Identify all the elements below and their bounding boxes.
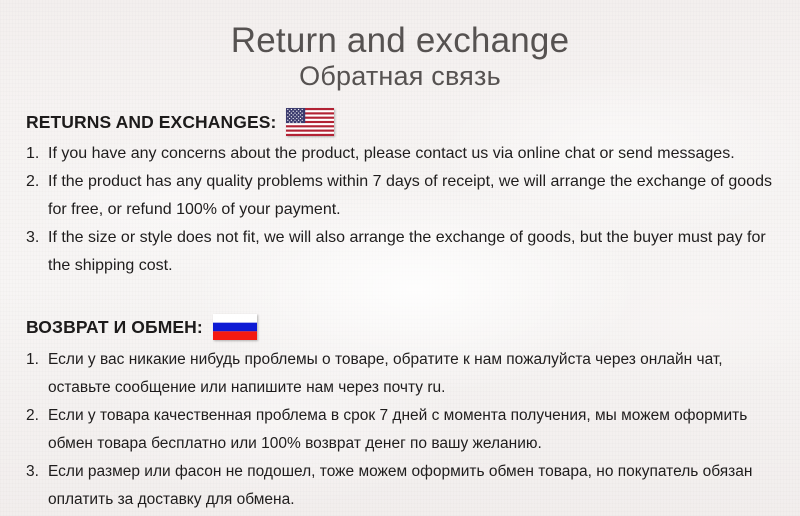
- section-heading-label-en: RETURNS AND EXCHANGES:: [26, 112, 276, 133]
- rule-line: for free, or refund 100% of your payment…: [48, 196, 780, 224]
- rule-line: Если у вас никакие нибудь проблемы о тов…: [48, 346, 780, 374]
- rule-number: 1.: [26, 140, 48, 168]
- rule-line: обмен товара бесплатно или 100% возврат …: [48, 430, 780, 458]
- list-item: 3. Если размер или фасон не подошел, тож…: [26, 458, 780, 514]
- page-title-block: Return and exchange Обратная связь: [0, 0, 800, 92]
- list-item: 1. If you have any concerns about the pr…: [26, 140, 780, 168]
- rule-line: If the product has any quality problems …: [48, 168, 780, 196]
- list-item: 1. Если у вас никакие нибудь проблемы о …: [26, 346, 780, 402]
- page-content: Return and exchange Обратная связь RETUR…: [0, 0, 800, 516]
- list-item: 3. If the size or style does not fit, we…: [26, 224, 780, 280]
- rule-line: If the size or style does not fit, we wi…: [48, 224, 780, 252]
- section-heading-label-ru: ВОЗВРАТ И ОБМЕН:: [26, 317, 203, 338]
- rule-number: 3.: [26, 458, 48, 486]
- list-item: 2. Если у товара качественная проблема в…: [26, 402, 780, 458]
- rules-list-ru: 1. Если у вас никакие нибудь проблемы о …: [26, 346, 780, 514]
- rule-text: If the product has any quality problems …: [48, 168, 780, 224]
- rule-line: If you have any concerns about the produ…: [48, 140, 780, 168]
- russia-flag-icon: [213, 314, 257, 340]
- rule-line: the shipping cost.: [48, 252, 780, 280]
- rules-list-en: 1. If you have any concerns about the pr…: [26, 140, 780, 280]
- rule-line: Если у товара качественная проблема в ср…: [48, 402, 780, 430]
- rule-number: 1.: [26, 346, 48, 374]
- rule-text: Если размер или фасон не подошел, тоже м…: [48, 458, 780, 514]
- page-title-russian: Обратная связь: [0, 61, 800, 92]
- rule-number: 2.: [26, 168, 48, 196]
- rule-number: 2.: [26, 402, 48, 430]
- section-returns-and-exchanges-en: RETURNS AND EXCHANGES:: [0, 107, 800, 280]
- us-flag-icon: [286, 108, 334, 136]
- list-item: 2. If the product has any quality proble…: [26, 168, 780, 224]
- return-and-exchange-page: Return and exchange Обратная связь RETUR…: [0, 0, 800, 516]
- page-title-english: Return and exchange: [0, 22, 800, 60]
- rule-text: Если у вас никакие нибудь проблемы о тов…: [48, 346, 780, 402]
- rule-line: Если размер или фасон не подошел, тоже м…: [48, 458, 780, 486]
- rule-line: оплатить за доставку для обмена.: [48, 486, 780, 514]
- rule-text: Если у товара качественная проблема в ср…: [48, 402, 780, 458]
- rule-text: If the size or style does not fit, we wi…: [48, 224, 780, 280]
- section-heading-ru: ВОЗВРАТ И ОБМЕН:: [26, 312, 780, 342]
- rule-text: If you have any concerns about the produ…: [48, 140, 780, 168]
- section-heading-en: RETURNS AND EXCHANGES:: [26, 107, 780, 137]
- rule-number: 3.: [26, 224, 48, 252]
- rule-line: оставьте сообщение или напишите нам чере…: [48, 374, 780, 402]
- section-vozvrat-i-obmen-ru: ВОЗВРАТ И ОБМЕН: 1. Если у вас никакие н…: [0, 312, 800, 514]
